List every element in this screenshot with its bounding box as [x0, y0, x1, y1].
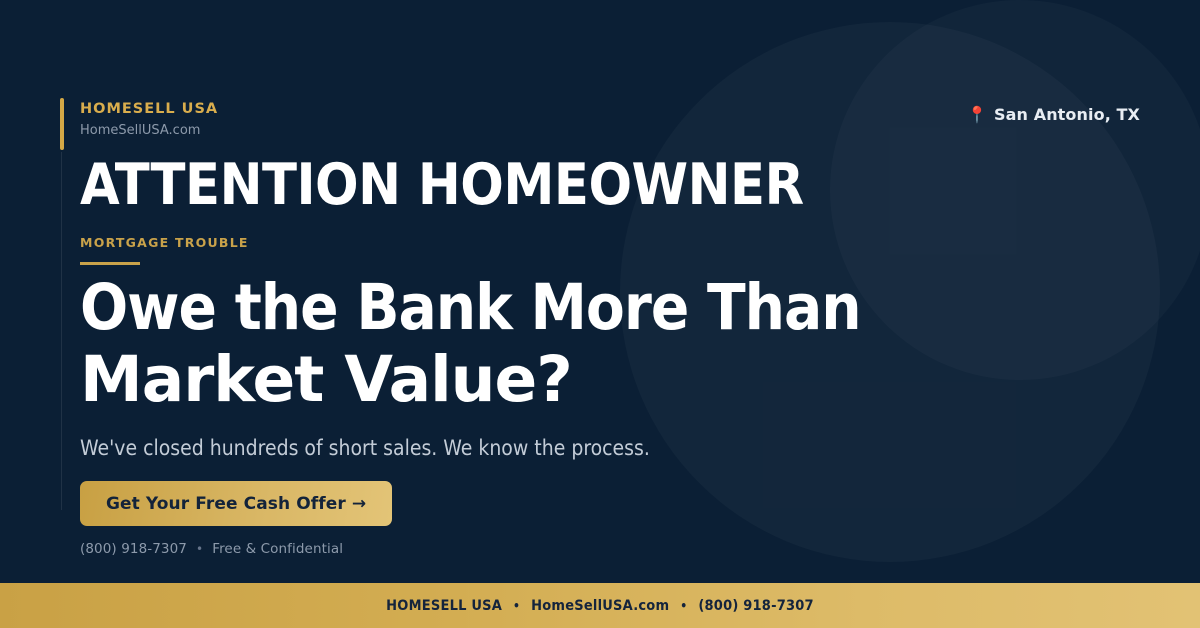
- footer-url[interactable]: HomeSellUSA.com: [531, 598, 669, 614]
- brand-accent-bar: [60, 98, 64, 150]
- eyebrow-label: MORTGAGE TROUBLE: [80, 237, 249, 250]
- location-label: San Antonio, TX: [994, 105, 1140, 124]
- footer-separator-dot-2: •: [680, 599, 687, 613]
- brand-url: HomeSellUSA.com: [80, 121, 218, 141]
- footer-separator-dot-1: •: [513, 599, 520, 613]
- brand-block: HOMESELL USA HomeSellUSA.com: [80, 100, 218, 141]
- attention-heading: ATTENTION HOMEOWNER: [80, 157, 804, 214]
- brand-row: HOMESELL USA HomeSellUSA.com 📍 San Anton…: [80, 100, 1140, 141]
- brand-name: HOMESELL USA: [80, 100, 218, 118]
- footer-content: HOMESELL USA • HomeSellUSA.com • (800) 9…: [386, 598, 814, 614]
- headline-line-2: Market Value?: [80, 344, 1080, 416]
- eyebrow-rule: [80, 262, 140, 265]
- location-badge: 📍 San Antonio, TX: [967, 105, 1140, 124]
- footer-bar: HOMESELL USA • HomeSellUSA.com • (800) 9…: [0, 583, 1200, 628]
- content-area: HOMESELL USA HomeSellUSA.com 📍 San Anton…: [80, 0, 1140, 628]
- contact-separator-dot: •: [196, 542, 203, 556]
- footer-phone[interactable]: (800) 918-7307: [698, 598, 813, 614]
- subheading: We've closed hundreds of short sales. We…: [80, 435, 650, 462]
- contact-note: Free & Confidential: [212, 541, 343, 557]
- page-title: Owe the Bank More Than Market Value?: [80, 272, 1080, 416]
- contact-line: (800) 918-7307 • Free & Confidential: [80, 541, 343, 557]
- cta-button[interactable]: Get Your Free Cash Offer →: [80, 481, 392, 526]
- footer-brand: HOMESELL USA: [386, 598, 502, 614]
- headline-line-1: Owe the Bank More Than: [80, 272, 1080, 344]
- contact-phone[interactable]: (800) 918-7307: [80, 541, 187, 557]
- vertical-rail-line: [61, 152, 62, 510]
- ad-banner: HOMESELL USA HomeSellUSA.com 📍 San Anton…: [0, 0, 1200, 628]
- pin-icon: 📍: [967, 107, 987, 123]
